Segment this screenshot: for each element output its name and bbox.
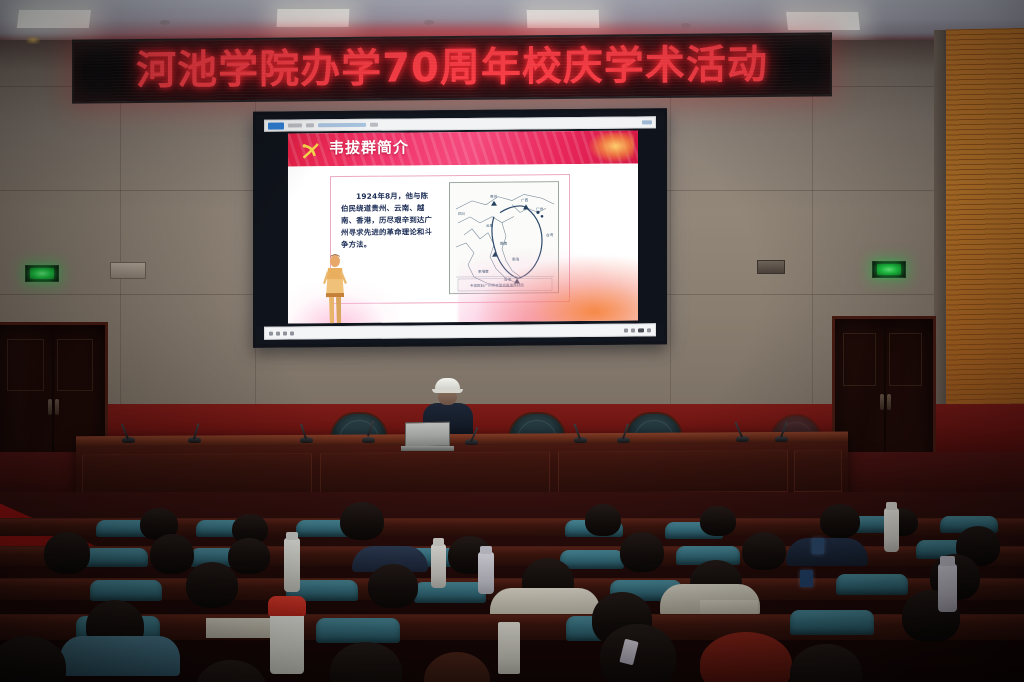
audience-head <box>742 532 786 570</box>
mobile-phone[interactable] <box>812 538 824 554</box>
audience-head <box>585 504 621 536</box>
auditorium-seat <box>414 582 486 603</box>
audience-head <box>228 538 270 574</box>
microphone-base <box>736 436 749 442</box>
audience-shoulders <box>786 538 868 566</box>
app-toolbar[interactable] <box>264 116 656 131</box>
screen-surface: 韦拔群简介 1924年8月，他与陈伯民绕道贵州、云南、越南、香港，历尽艰辛到达广… <box>256 111 664 345</box>
decorative-ribbon <box>458 246 638 323</box>
projection-screen: 韦拔群简介 1924年8月，他与陈伯民绕道贵州、云南、越南、香港，历尽艰辛到达广… <box>253 108 667 348</box>
mobile-phone[interactable] <box>800 570 813 587</box>
microphone-base <box>362 437 375 443</box>
audience-head <box>44 532 90 574</box>
thermos-cap-red <box>268 596 306 616</box>
tray-icon[interactable] <box>631 328 635 332</box>
desktop-taskbar[interactable] <box>264 323 656 339</box>
audience-area <box>0 492 1024 682</box>
beverage-carton[interactable] <box>498 622 520 674</box>
audience-head <box>620 532 664 572</box>
start-button-icon[interactable] <box>269 331 273 335</box>
hammer-and-sickle-icon <box>300 139 321 160</box>
notebook-paper <box>700 600 758 614</box>
toolbar-item[interactable] <box>318 123 366 127</box>
svg-text:广州: 广州 <box>536 206 544 211</box>
taskbar-item-icon[interactable] <box>283 331 287 335</box>
lecture-hall-photo: 河池学院办学70周年校庆学术活动 <box>0 0 1024 682</box>
jacket-logo <box>26 36 40 44</box>
slide-header: 韦拔群简介 <box>288 130 638 166</box>
water-bottle[interactable] <box>284 538 300 592</box>
bottle-cap <box>940 556 955 566</box>
svg-text:四川: 四川 <box>458 212 466 216</box>
presenter-cap-brim <box>432 389 463 393</box>
tray-icon[interactable] <box>638 328 644 332</box>
bottle-cap <box>286 532 298 540</box>
svg-text:云南: 云南 <box>486 223 494 228</box>
toolbar-item[interactable] <box>370 123 378 127</box>
clock-icon[interactable] <box>647 328 651 332</box>
svg-text:越南: 越南 <box>500 241 508 246</box>
bottle-cap <box>886 502 897 510</box>
audience-shoulders <box>60 636 180 676</box>
toolbar-item[interactable] <box>288 123 302 127</box>
auditorium-seat <box>790 610 874 635</box>
app-logo-icon <box>268 122 284 129</box>
exit-sign-left <box>25 265 59 282</box>
exit-sign-right <box>872 261 906 278</box>
bottle-cap <box>480 546 492 554</box>
banner-text: 河池学院办学70周年校庆学术活动 <box>136 45 768 91</box>
taskbar-item-icon[interactable] <box>290 331 294 335</box>
thermos-red[interactable] <box>270 610 304 674</box>
svg-text:贵州: 贵州 <box>490 194 498 199</box>
thermos[interactable] <box>478 552 494 594</box>
auditorium-seat <box>560 550 624 569</box>
slide-body: 1924年8月，他与陈伯民绕道贵州、云南、越南、香港，历尽艰辛到达广州寻求先进的… <box>288 163 638 323</box>
header-flourish <box>588 132 634 162</box>
auditorium-seat <box>316 618 400 643</box>
slide-body-text: 1924年8月，他与陈伯民绕道贵州、云南、越南、香港，历尽艰辛到达广州寻求先进的… <box>341 190 433 251</box>
auditorium-seat <box>84 548 148 567</box>
auditorium-seat <box>90 580 162 601</box>
tray-icon[interactable] <box>624 328 628 332</box>
audience-head <box>368 564 418 608</box>
toolbar-item[interactable] <box>306 123 314 127</box>
auditorium-seat <box>836 574 908 595</box>
thermos[interactable] <box>884 508 899 552</box>
wall-control-panel[interactable] <box>757 260 785 274</box>
wei-baqun-statue-figure <box>321 253 349 324</box>
svg-text:广西: 广西 <box>521 197 529 202</box>
toolbar-close-icon[interactable] <box>642 120 652 124</box>
led-banner: 河池学院办学70周年校庆学术活动 <box>72 32 832 103</box>
audience-head <box>186 562 238 608</box>
laptop-base <box>401 446 454 451</box>
presentation-slide: 韦拔群简介 1924年8月，他与陈伯民绕道贵州、云南、越南、香港，历尽艰辛到达广… <box>288 130 638 323</box>
svg-text:台湾: 台湾 <box>546 232 554 237</box>
audience-head <box>600 624 676 682</box>
exit-icon <box>877 264 901 275</box>
audience-head <box>820 504 860 538</box>
audience-head <box>340 502 384 540</box>
audience-head <box>150 534 194 574</box>
laptop <box>405 422 450 448</box>
thermos[interactable] <box>938 564 957 612</box>
audience-head <box>700 506 736 536</box>
slide-title: 韦拔群简介 <box>329 140 409 156</box>
thermos[interactable] <box>431 544 446 588</box>
bottle-cap <box>433 538 444 546</box>
exit-icon <box>30 268 54 279</box>
taskbar-item-icon[interactable] <box>276 331 280 335</box>
wall-control-panel[interactable] <box>110 262 146 279</box>
